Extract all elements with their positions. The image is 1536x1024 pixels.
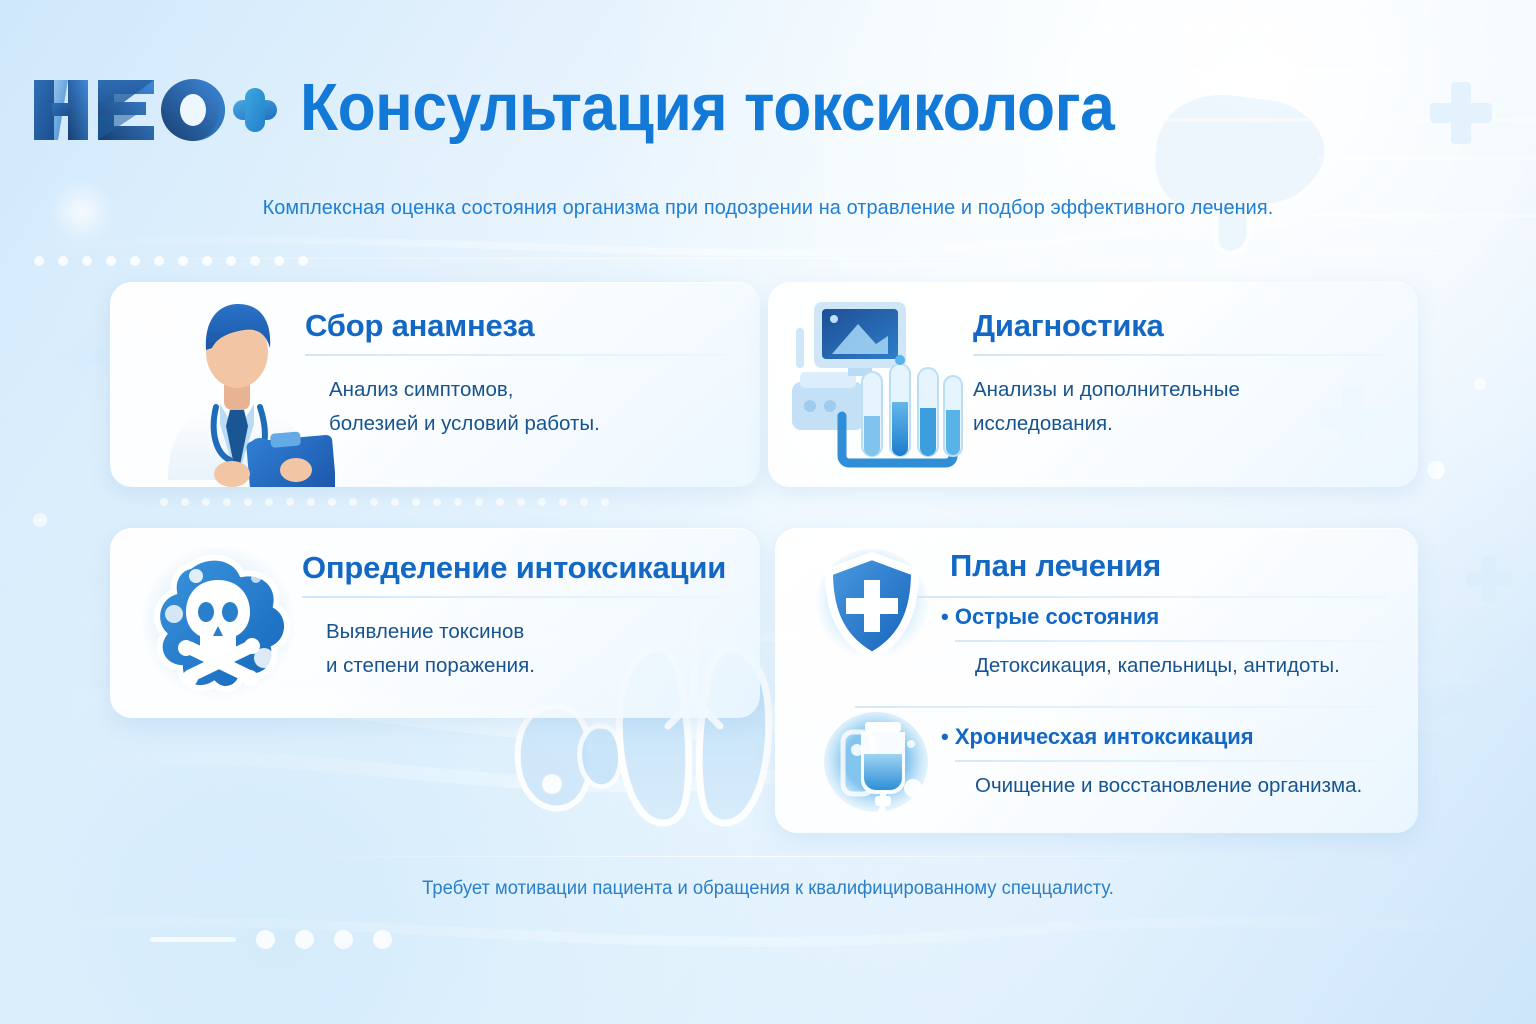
bullet-marker: • [941, 724, 949, 749]
card-text-line-2: исследования. [973, 408, 1113, 439]
card-divider [973, 354, 1383, 356]
header-divider [90, 258, 1446, 259]
background-shapes [0, 0, 1536, 1024]
card-text-line-1: Анализ симптомов, [329, 374, 513, 405]
dot-line-decor [150, 930, 392, 949]
card-title: Сбор анамнеза [305, 308, 534, 344]
page-title: Консультация токсиколога [300, 70, 1114, 146]
shield-cross-icon [805, 542, 940, 677]
card-divider [302, 596, 722, 598]
card-title: Определение интоксикации [302, 550, 726, 586]
page-subtitle: Комплексная оценка состояния организма п… [23, 196, 1513, 220]
card-intoxication[interactable]: Определение интоксикации Выявление токси… [110, 528, 760, 718]
bullet-divider [955, 760, 1385, 762]
card-text-line-2: и степени поражения. [326, 650, 535, 681]
dot-line-decor [1100, 20, 1273, 31]
liver-silhouette-icon [1153, 92, 1327, 253]
background-decoration [0, 0, 1536, 1024]
card-diagnostics[interactable]: Диагностика Анализы и дополнительные исс… [768, 282, 1418, 487]
skull-toxic-icon [128, 536, 308, 711]
card-anamnesis[interactable]: Сбор анамнеза Анализ симптомов, болезией… [110, 282, 760, 487]
iv-drip-icon [817, 704, 935, 824]
bullet-divider [955, 640, 1385, 642]
bullet-detail: Детоксикация, капельницы, антидоты. [975, 654, 1340, 678]
card-treatment-plan[interactable]: План лечения • Остры [775, 528, 1418, 833]
card-divider [875, 596, 1387, 598]
card-divider [305, 354, 725, 356]
cross-decor-icon [56, 330, 108, 382]
card-title: Диагностика [973, 308, 1164, 344]
doctor-icon [120, 282, 335, 487]
card-text-line-1: Выявление токсинов [326, 616, 524, 647]
card-text-line-2: болезией и условий работы. [329, 408, 600, 439]
kidney-silhouette-icon [518, 706, 621, 809]
dot-line-decor [160, 498, 609, 506]
footer-divider [300, 856, 1236, 857]
bullet-label: • Острые состояния [941, 604, 1159, 630]
bullet-text: Острые состояния [955, 604, 1159, 629]
cross-decor-icon [1430, 82, 1492, 144]
infographic-poster: Консультация токсиколога Комплексная оце… [0, 0, 1536, 1024]
cross-decor-icon [1466, 556, 1512, 602]
plus-icon [233, 88, 277, 132]
card-text-line-1: Анализы и дополнительные [973, 374, 1240, 405]
bullet-marker: • [941, 604, 949, 629]
bullet-label: • Хроничесхая интоксикация [941, 724, 1254, 750]
footer-note: Требует мотивации пациента и обращения к… [23, 878, 1513, 900]
lab-equipment-icon [784, 290, 979, 480]
bullet-detail: Очищение и восстановление организма. [975, 774, 1362, 798]
neo-plus-logo-icon [28, 72, 278, 148]
brand-logo [28, 72, 278, 148]
card-title: План лечения [950, 548, 1161, 584]
bullet-text: Хроничесхая интоксикация [955, 724, 1254, 749]
